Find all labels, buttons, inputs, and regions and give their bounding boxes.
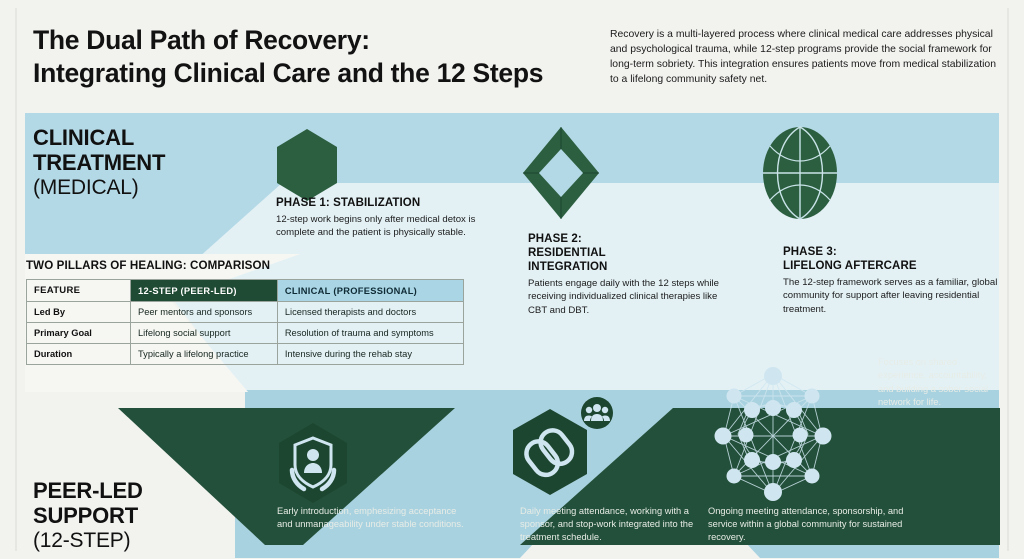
comparison-table-section: TWO PILLARS OF HEALING: COMPARISON FEATU… — [26, 259, 466, 365]
phase-1-block: PHASE 1: STABILIZATION 12-step work begi… — [276, 196, 504, 239]
page-title: The Dual Path of Recovery: Integrating C… — [33, 24, 603, 91]
phase-2-heading-line-3: INTEGRATION — [528, 261, 607, 273]
title-line-2: Integrating Clinical Care and the 12 Ste… — [33, 57, 603, 90]
infographic-canvas: The Dual Path of Recovery: Integrating C… — [0, 0, 1024, 559]
table-header-row: FEATURE 12-STEP (PEER-LED) CLINICAL (PRO… — [27, 280, 464, 302]
peer-label-line-1: PEER-LED — [33, 479, 143, 504]
peer-label-line-3: (12-STEP) — [33, 529, 143, 553]
table-cell-label: Led By — [27, 302, 131, 323]
phase-2-block: PHASE 2: RESIDENTIAL INTEGRATION Patient… — [528, 232, 734, 317]
clinical-label-line-3: (MEDICAL) — [33, 176, 165, 200]
clinical-label-line-1: CLINICAL — [33, 126, 165, 151]
title-line-1: The Dual Path of Recovery: — [33, 25, 370, 55]
phase-2-heading: PHASE 2: RESIDENTIAL INTEGRATION — [528, 232, 734, 274]
table-cell-twelve-step: Typically a lifelong practice — [131, 344, 278, 365]
peer-step-3-caption: Ongoing meeting attendance, sponsorship,… — [708, 505, 913, 545]
table-cell-clinical: Intensive during the rehab stay — [277, 344, 463, 365]
table-header-clinical: CLINICAL (PROFESSIONAL) — [277, 280, 463, 302]
phase-2-heading-line-1: PHASE 2: — [528, 233, 582, 245]
phase-3-heading-line-2: LIFELONG AFTERCARE — [783, 260, 917, 272]
table-cell-clinical: Resolution of trauma and symptoms — [277, 323, 463, 344]
peer-step-2-caption: Daily meeting attendance, working with a… — [520, 505, 720, 545]
group-people-icon — [580, 396, 614, 430]
phase-2-heading-line-2: RESIDENTIAL — [528, 247, 606, 259]
table-cell-twelve-step: Lifelong social support — [131, 323, 278, 344]
side-note-text: Focuses on shared experience, accountabi… — [878, 356, 998, 410]
network-nodes-icon — [710, 366, 836, 502]
table-cell-label: Duration — [27, 344, 131, 365]
table-header-feature: FEATURE — [27, 280, 131, 302]
phase-3-heading: PHASE 3: LIFELONG AFTERCARE — [783, 245, 998, 273]
table-cell-twelve-step: Peer mentors and sponsors — [131, 302, 278, 323]
chain-links-icon — [512, 408, 588, 496]
comparison-table-title: TWO PILLARS OF HEALING: COMPARISON — [26, 259, 466, 272]
table-row: Duration Typically a lifelong practice I… — [27, 344, 464, 365]
shield-person-hands-icon — [278, 422, 348, 504]
hexagon-icon — [276, 128, 338, 202]
intro-paragraph: Recovery is a multi-layered process wher… — [610, 27, 1002, 87]
phase-3-body: The 12-step framework serves as a famili… — [783, 276, 998, 316]
peer-label-line-2: SUPPORT — [33, 504, 143, 529]
peer-band-label: PEER-LED SUPPORT (12-STEP) — [33, 479, 143, 552]
globe-icon — [762, 126, 838, 220]
table-row: Led By Peer mentors and sponsors License… — [27, 302, 464, 323]
diamond-outline-icon — [521, 125, 601, 221]
table-row: Primary Goal Lifelong social support Res… — [27, 323, 464, 344]
phase-1-heading: PHASE 1: STABILIZATION — [276, 196, 504, 210]
table-header-twelve-step: 12-STEP (PEER-LED) — [131, 280, 278, 302]
clinical-label-line-2: TREATMENT — [33, 151, 165, 176]
phase-3-block: PHASE 3: LIFELONG AFTERCARE The 12-step … — [783, 245, 998, 316]
clinical-band-label: CLINICAL TREATMENT (MEDICAL) — [33, 126, 165, 199]
phase-3-heading-line-1: PHASE 3: — [783, 246, 837, 258]
comparison-table: FEATURE 12-STEP (PEER-LED) CLINICAL (PRO… — [26, 279, 464, 365]
table-cell-clinical: Licensed therapists and doctors — [277, 302, 463, 323]
peer-step-1-caption: Early introduction, emphesizing acceptan… — [277, 505, 467, 531]
table-cell-label: Primary Goal — [27, 323, 131, 344]
phase-1-body: 12-step work begins only after medical d… — [276, 213, 504, 239]
phase-2-body: Patients engage daily with the 12 steps … — [528, 277, 734, 317]
